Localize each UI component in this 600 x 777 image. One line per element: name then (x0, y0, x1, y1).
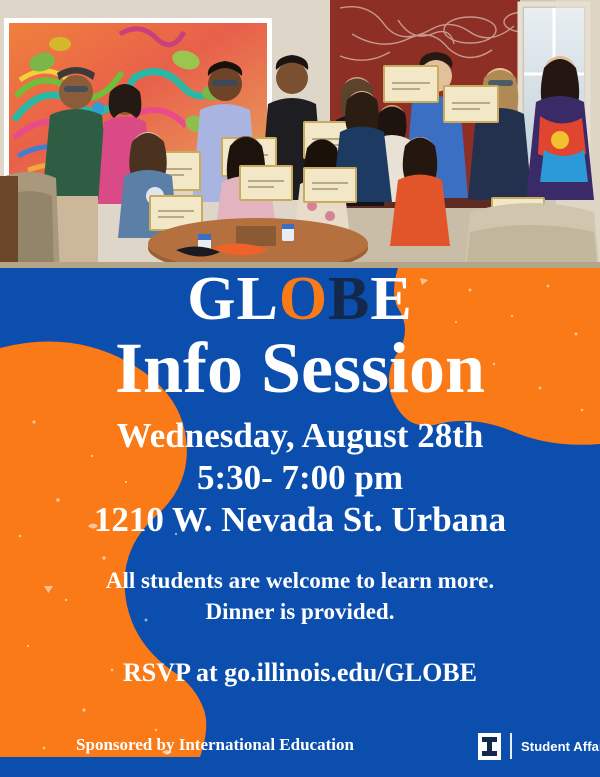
group-photo (0, 0, 600, 275)
title-letter-e: E (370, 265, 412, 333)
welcome-text: All students are welcome to learn more. (0, 565, 600, 596)
page-subtitle: Info Session (0, 330, 600, 406)
logo-divider (510, 733, 512, 759)
title-letter-l: L (236, 265, 278, 333)
dinner-text: Dinner is provided. (0, 596, 600, 627)
title-letter-b: B (328, 265, 370, 333)
group-photo-illustration (0, 0, 600, 275)
page-title: GLOBE (0, 268, 600, 330)
event-location: 1210 W. Nevada St. Urbana (0, 499, 600, 541)
sponsor-text: Sponsored by International Education (0, 734, 430, 756)
block-i-icon (478, 733, 501, 760)
title-letter-o: O (279, 265, 328, 333)
flyer-text: GLOBE Info Session Wednesday, August 28t… (0, 268, 600, 777)
title-letter-g: G (187, 265, 236, 333)
rsvp-link[interactable]: RSVP at go.illinois.edu/GLOBE (0, 657, 600, 689)
event-date: Wednesday, August 28th (0, 415, 600, 457)
event-time: 5:30- 7:00 pm (0, 457, 600, 499)
logo-unit-name: Student Affairs (521, 739, 600, 754)
block-i-glyph (481, 736, 498, 757)
illinois-student-affairs-logo: Student Affairs (478, 731, 600, 761)
globe-info-session-flyer: GLOBE Info Session Wednesday, August 28t… (0, 0, 600, 777)
